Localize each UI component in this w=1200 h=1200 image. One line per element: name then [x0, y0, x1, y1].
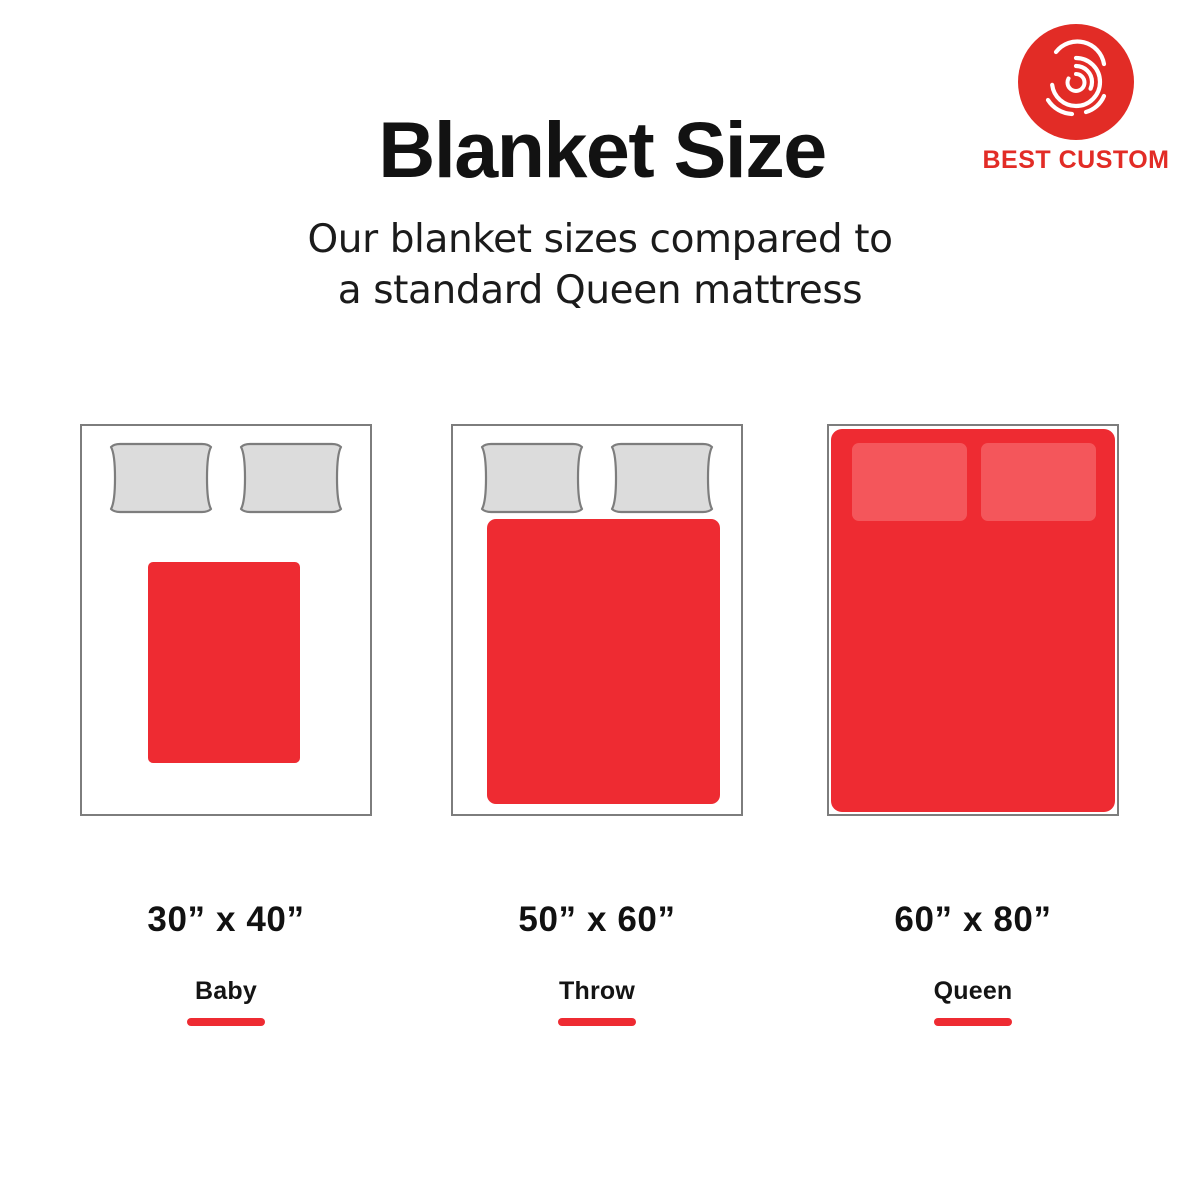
size-label-queen: 60” x 80” Queen: [827, 902, 1119, 1026]
size-name: Queen: [827, 979, 1119, 1004]
pillow-icon: [104, 440, 218, 516]
underline-rule: [558, 1018, 636, 1026]
size-dimensions: 50” x 60”: [451, 902, 743, 937]
size-label-baby: 30” x 40” Baby: [80, 902, 372, 1026]
size-dimensions: 60” x 80”: [827, 902, 1119, 937]
size-name: Throw: [451, 979, 743, 1004]
underline-rule: [187, 1018, 265, 1026]
size-labels-row: 30” x 40” Baby 50” x 60” Throw 60” x 80”…: [0, 902, 1200, 1042]
size-name: Baby: [80, 979, 372, 1004]
pillow-icon: [981, 443, 1096, 521]
bed-diagram-throw: [451, 424, 743, 816]
pillow-icon: [605, 440, 719, 516]
header-block: Blanket Size Our blanket sizes compared …: [0, 108, 1200, 317]
page-title: Blanket Size: [2, 108, 1200, 192]
blanket-shape-queen: [831, 429, 1115, 812]
size-label-throw: 50” x 60” Throw: [451, 902, 743, 1026]
bed-comparison-row: [0, 424, 1200, 816]
pillow-icon: [475, 440, 589, 516]
subtitle-line-1: Our blanket sizes compared to: [0, 214, 1200, 265]
pillow-icon: [234, 440, 348, 516]
blanket-shape-throw: [487, 519, 720, 804]
underline-rule: [934, 1018, 1012, 1026]
subtitle-line-2: a standard Queen mattress: [0, 265, 1200, 316]
size-dimensions: 30” x 40”: [80, 902, 372, 937]
pillow-icon: [852, 443, 967, 521]
blanket-shape-baby: [148, 562, 300, 763]
page-subtitle: Our blanket sizes compared to a standard…: [0, 214, 1200, 317]
bed-diagram-queen: [827, 424, 1119, 816]
pillow-row: [451, 440, 743, 516]
bed-diagram-baby: [80, 424, 372, 816]
pillow-row: [80, 440, 372, 516]
